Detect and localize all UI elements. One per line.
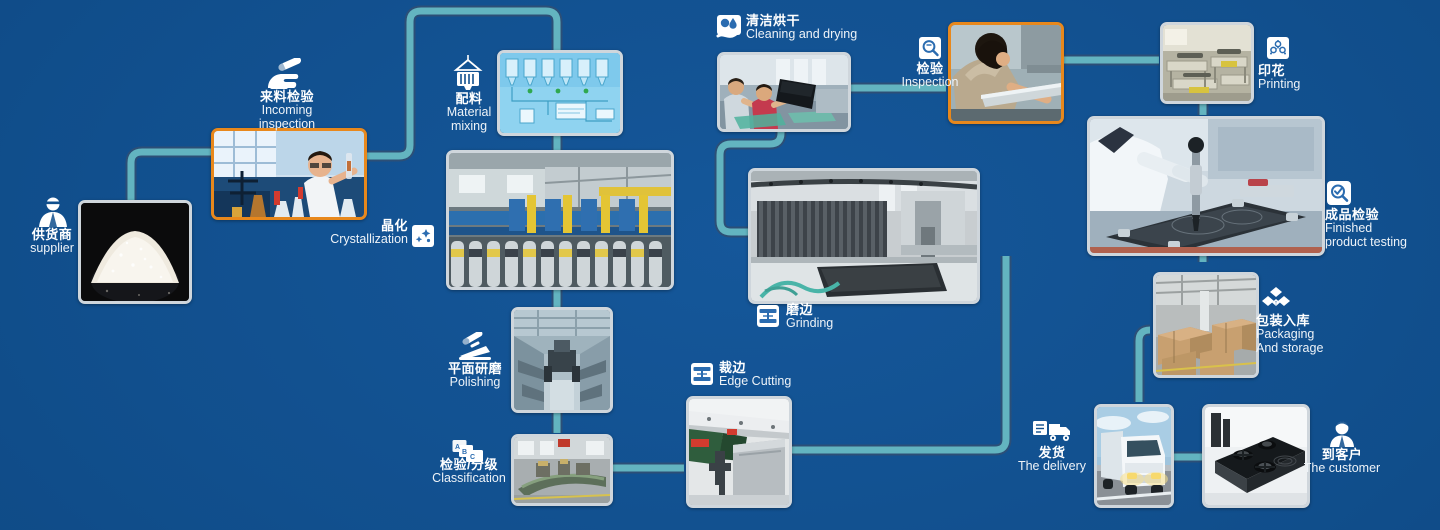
label-classification-cn: 检验/分级 <box>426 458 512 472</box>
label-supplier: 供货商 supplier <box>10 228 94 256</box>
check-magnifier-icon <box>1326 180 1352 206</box>
label-finished-en1: Finished <box>1325 222 1407 236</box>
label-finished-testing: 成品检验 Finished product testing <box>1325 208 1407 249</box>
label-incoming-cn: 来料检验 <box>236 90 338 104</box>
truck-icon <box>1032 418 1072 444</box>
label-edgecutting-cn: 裁边 <box>719 361 791 375</box>
label-packaging-cn: 包装入库 <box>1256 314 1323 328</box>
label-mixing-cn: 配料 <box>432 92 506 106</box>
test-tube-hand-icon <box>266 58 308 90</box>
magnifier-icon <box>918 36 942 60</box>
label-finished-en2: product testing <box>1325 236 1407 250</box>
photo-printing[interactable] <box>1160 22 1254 104</box>
customer-icon <box>1327 420 1357 448</box>
photo-incoming-inspection[interactable] <box>211 128 367 220</box>
svg-text:A: A <box>455 444 460 451</box>
label-packaging-en2: And storage <box>1256 342 1323 356</box>
label-printing-cn: 印花 <box>1258 64 1300 78</box>
label-edgecutting-en: Edge Cutting <box>719 375 791 389</box>
grinder-icon <box>756 304 780 328</box>
svg-text:↑: ↑ <box>1274 300 1278 307</box>
label-grinding-cn: 磨边 <box>786 303 833 317</box>
label-delivery-cn: 发货 <box>1008 446 1096 460</box>
polisher-icon <box>458 332 492 360</box>
cutter-icon <box>690 362 714 386</box>
photo-delivery-truck[interactable] <box>1094 404 1174 508</box>
diagram-canvas: .w { fill:none; stroke:#63b4c0; stroke-w… <box>0 0 1440 530</box>
supplier-icon <box>36 196 70 228</box>
photo-classification[interactable] <box>511 434 613 506</box>
label-incoming-inspection: 来料检验 Incoming inspection <box>236 90 338 131</box>
label-delivery-en: The delivery <box>1008 460 1096 474</box>
label-grinding-en: Grinding <box>786 317 833 331</box>
label-inspection-en: Inspection <box>884 76 976 90</box>
label-classification: 检验/分级 Classification <box>426 458 512 486</box>
label-crystallization-en: Crystallization <box>312 233 408 247</box>
label-cleaning-drying: 清洁烘干 Cleaning and drying <box>746 14 857 42</box>
label-delivery: 发货 The delivery <box>1008 446 1096 474</box>
photo-finished-testing[interactable] <box>1087 116 1325 256</box>
photo-packaging-storage[interactable] <box>1153 272 1259 378</box>
label-printing: 印花 Printing <box>1258 64 1300 92</box>
photo-supplier[interactable] <box>78 200 192 304</box>
photo-crystallization[interactable] <box>446 150 674 290</box>
label-crystallization: 晶化 Crystallization <box>312 219 408 247</box>
label-finished-cn: 成品检验 <box>1325 208 1407 222</box>
label-supplier-cn: 供货商 <box>10 228 94 242</box>
photo-customer-product[interactable] <box>1202 404 1310 508</box>
label-material-mixing: 配料 Material mixing <box>432 92 506 133</box>
svg-text:B: B <box>462 449 467 456</box>
package-icon: ↑ <box>1262 286 1290 310</box>
label-customer: 到客户 The customer <box>1298 448 1386 476</box>
label-polishing-en: Polishing <box>432 376 518 390</box>
label-supplier-en: supplier <box>10 242 94 256</box>
label-crystallization-cn: 晶化 <box>312 219 408 233</box>
label-inspection-cn: 检验 <box>884 62 976 76</box>
photo-material-mixing[interactable] <box>497 50 623 136</box>
label-edge-cutting: 裁边 Edge Cutting <box>719 361 791 389</box>
label-packaging-en1: Packaging <box>1256 328 1323 342</box>
label-customer-en: The customer <box>1298 462 1386 476</box>
label-incoming-en2: inspection <box>236 118 338 132</box>
wash-dry-icon <box>716 14 742 40</box>
label-incoming-en1: Incoming <box>236 104 338 118</box>
label-cleaning-cn: 清洁烘干 <box>746 14 857 28</box>
label-polishing: 平面研磨 Polishing <box>432 362 518 390</box>
label-grinding: 磨边 Grinding <box>786 303 833 331</box>
label-customer-cn: 到客户 <box>1298 448 1386 462</box>
photo-polishing[interactable] <box>511 307 613 413</box>
label-mixing-en2: mixing <box>432 120 506 134</box>
label-packaging-storage: 包装入库 Packaging And storage <box>1256 314 1323 355</box>
label-inspection: 检验 Inspection <box>884 62 976 90</box>
photo-grinding[interactable] <box>748 168 980 304</box>
label-classification-en: Classification <box>426 472 512 486</box>
label-printing-en: Printing <box>1258 78 1300 92</box>
silo-hopper-icon <box>452 54 484 90</box>
label-cleaning-en: Cleaning and drying <box>746 28 857 42</box>
label-mixing-en1: Material <box>432 106 506 120</box>
label-polishing-cn: 平面研磨 <box>432 362 518 376</box>
photo-edge-cutting[interactable] <box>686 396 792 508</box>
photo-cleaning-drying[interactable] <box>717 52 851 132</box>
crystal-icon <box>411 224 435 248</box>
printing-icon <box>1266 36 1290 60</box>
